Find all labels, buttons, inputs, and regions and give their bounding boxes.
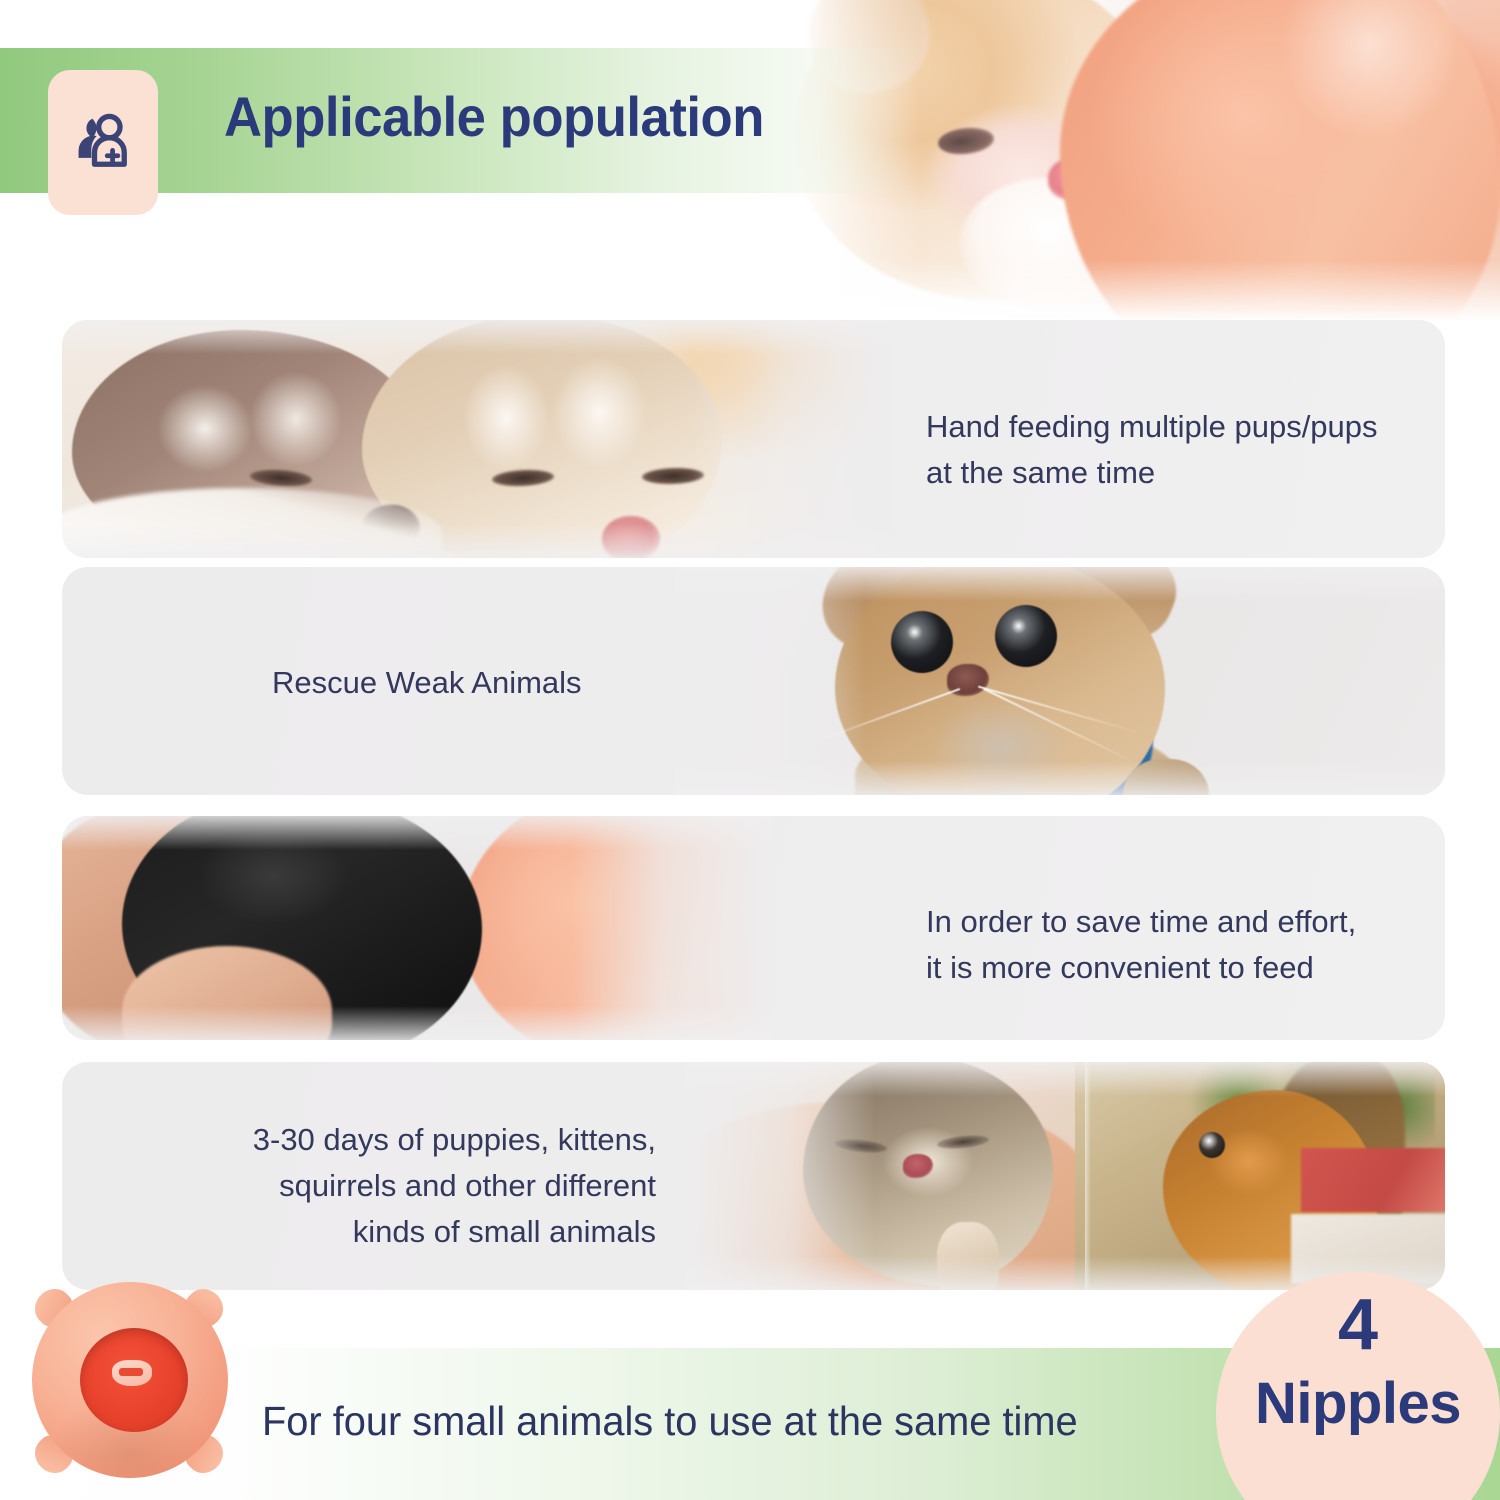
black-puppy-bottle-feeding-photo bbox=[62, 816, 772, 1040]
squirrel-eye bbox=[1199, 1132, 1225, 1158]
nipple-count-number: 4 bbox=[1216, 1289, 1500, 1361]
page-title: Applicable population bbox=[224, 84, 764, 149]
card2-fade-bottom bbox=[675, 761, 1445, 795]
users-plus-icon bbox=[48, 70, 158, 215]
newborn-kitten-and-squirrel-photo bbox=[685, 1062, 1445, 1290]
card3-fade-top bbox=[62, 816, 772, 850]
benefit-card-2-text: Rescue Weak Animals bbox=[272, 660, 582, 706]
cap-valve bbox=[112, 1360, 152, 1386]
benefit-card-1-text: Hand feeding multiple pups/pups at the s… bbox=[926, 404, 1378, 496]
card2-fade-top bbox=[675, 567, 1445, 601]
benefit-card-1: Hand feeding multiple pups/pups at the s… bbox=[62, 320, 1445, 558]
infographic-page: Applicable population Hand feeding multi… bbox=[0, 0, 1500, 1500]
nipple-count-label: Nipples bbox=[1216, 1375, 1500, 1433]
kitten-eye-left bbox=[891, 611, 953, 673]
tabby-kitten-photo bbox=[675, 567, 1445, 795]
card1-fade-top bbox=[62, 320, 892, 354]
card1-photo-fade bbox=[692, 320, 892, 558]
sleeping-husky-puppies-photo bbox=[62, 320, 892, 558]
four-nipple-silicone-cap-photo bbox=[10, 1268, 246, 1500]
card1-fade-bottom bbox=[62, 524, 892, 558]
footer-caption: For four small animals to use at the sam… bbox=[262, 1398, 1078, 1445]
benefit-card-2: Rescue Weak Animals bbox=[62, 567, 1445, 795]
kitten-eye-right bbox=[995, 605, 1057, 667]
benefit-card-3-text: In order to save time and effort, it is … bbox=[926, 899, 1356, 991]
benefit-card-4-text: 3-30 days of puppies, kittens, squirrels… bbox=[186, 1117, 656, 1255]
red-book bbox=[1301, 1148, 1445, 1212]
card4-fade-top bbox=[685, 1062, 1445, 1096]
card3-fade-bottom bbox=[62, 1006, 772, 1040]
benefit-card-3: In order to save time and effort, it is … bbox=[62, 816, 1445, 1040]
